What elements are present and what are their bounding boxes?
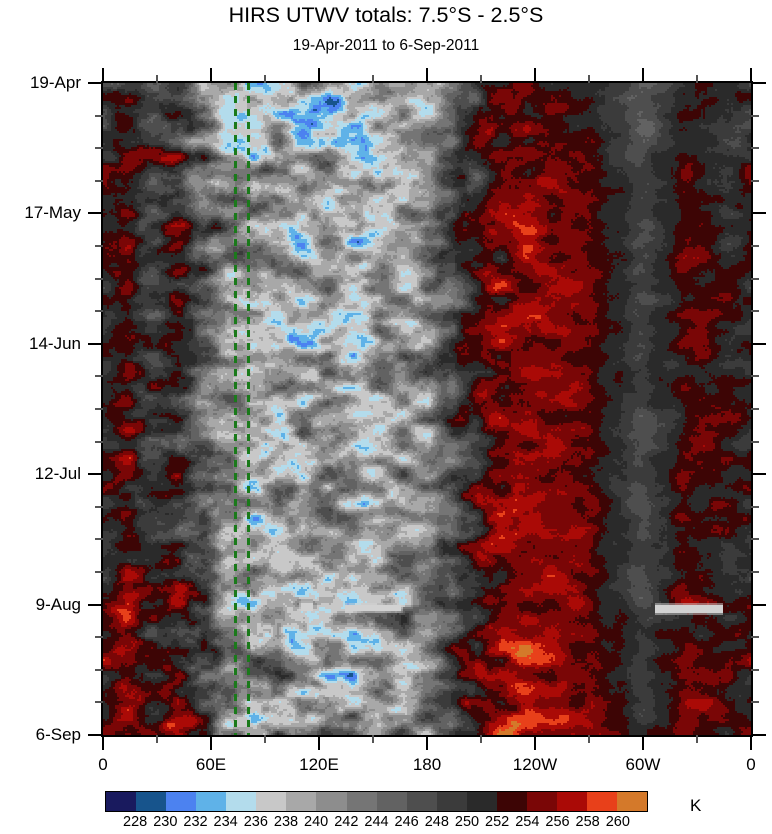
axis-tick — [210, 68, 212, 83]
x-axis-tick-label: 0 — [98, 755, 107, 775]
axis-tick — [751, 571, 759, 573]
plot-area — [103, 83, 751, 735]
colorbar-swatch-0 — [106, 792, 136, 811]
axis-tick — [156, 75, 158, 83]
axis-tick — [318, 68, 320, 83]
page-subtitle: 19-Apr-2011 to 6-Sep-2011 — [0, 36, 772, 56]
axis-tick — [751, 278, 759, 280]
axis-tick — [751, 506, 759, 508]
axis-tick — [751, 636, 759, 638]
colorbar-swatch-8 — [347, 792, 377, 811]
x-axis-tick-label: 180 — [413, 755, 441, 775]
axis-tick — [95, 278, 103, 280]
colorbar-swatch-2 — [166, 792, 196, 811]
axis-tick — [95, 310, 103, 312]
axis-tick — [588, 75, 590, 83]
colorbar-tick-label: 258 — [576, 813, 600, 831]
colorbar-tick-label: 230 — [153, 813, 177, 831]
axis-tick — [534, 735, 536, 750]
axis-tick — [751, 669, 759, 671]
colorbar-tick-label: 248 — [425, 813, 449, 831]
colorbar-tick-label: 236 — [244, 813, 268, 831]
axis-tick — [750, 735, 752, 750]
y-axis-tick-label: 17-May — [0, 203, 81, 223]
axis-tick — [751, 147, 759, 149]
x-axis-tick-label: 120E — [299, 755, 339, 775]
axis-tick — [372, 735, 374, 743]
x-axis-tick-label: 60W — [626, 755, 661, 775]
y-axis-tick-label: 19-Apr — [0, 73, 81, 93]
axis-tick — [88, 343, 103, 345]
colorbar-tick-label: 256 — [545, 813, 569, 831]
colorbar-tick-label: 250 — [455, 813, 479, 831]
axis-tick — [480, 75, 482, 83]
colorbar-tick-label: 254 — [515, 813, 539, 831]
axis-tick — [95, 669, 103, 671]
axis-tick — [751, 115, 759, 117]
reference-line-1 — [247, 83, 250, 735]
axis-tick — [751, 343, 766, 345]
axis-tick — [95, 636, 103, 638]
colorbar-swatch-6 — [286, 792, 316, 811]
axis-tick — [751, 441, 759, 443]
axis-tick — [372, 75, 374, 83]
axis-tick — [642, 68, 644, 83]
axis-tick — [88, 212, 103, 214]
axis-tick — [751, 212, 766, 214]
y-axis-tick-label: 9-Aug — [0, 595, 81, 615]
axis-tick — [751, 180, 759, 182]
x-axis-tick-label: 0 — [746, 755, 755, 775]
axis-tick — [95, 115, 103, 117]
colorbar-tick-label: 246 — [395, 813, 419, 831]
colorbar-swatch-10 — [407, 792, 437, 811]
colorbar-tick-label: 244 — [364, 813, 388, 831]
hovmoller-figure: HIRS UTWV totals: 7.5°S - 2.5°S 19-Apr-2… — [0, 0, 772, 834]
colorbar-tick-label: 228 — [123, 813, 147, 831]
axis-tick — [696, 75, 698, 83]
axis-tick — [88, 473, 103, 475]
colorbar-swatches — [105, 791, 648, 812]
colorbar-swatch-17 — [617, 792, 647, 811]
colorbar-swatch-3 — [196, 792, 226, 811]
axis-tick — [751, 734, 766, 736]
axis-tick — [426, 68, 428, 83]
hovmoller-field — [103, 83, 751, 735]
colorbar-tick-labels: 2282302322342362382402422442462482502522… — [105, 813, 648, 833]
colorbar-tick-label: 260 — [606, 813, 630, 831]
axis-tick — [751, 375, 759, 377]
axis-tick — [696, 735, 698, 743]
axis-tick — [88, 82, 103, 84]
colorbar-tick-label: 238 — [274, 813, 298, 831]
colorbar-swatch-1 — [136, 792, 166, 811]
colorbar-swatch-5 — [256, 792, 286, 811]
axis-tick — [95, 408, 103, 410]
axis-tick — [480, 735, 482, 743]
reference-line-0 — [234, 83, 237, 735]
axis-tick — [751, 538, 759, 540]
axis-tick — [534, 68, 536, 83]
axis-tick — [95, 538, 103, 540]
axis-tick — [95, 701, 103, 703]
colorbar-swatch-13 — [497, 792, 527, 811]
axis-tick — [88, 604, 103, 606]
axis-tick — [95, 375, 103, 377]
axis-tick — [102, 735, 104, 750]
colorbar-tick-label: 242 — [334, 813, 358, 831]
y-axis-tick-label: 6-Sep — [0, 725, 81, 745]
axis-tick — [210, 735, 212, 750]
colorbar-swatch-9 — [377, 792, 407, 811]
axis-tick — [264, 735, 266, 743]
colorbar-tick-label: 234 — [214, 813, 238, 831]
axis-tick — [751, 701, 759, 703]
colorbar-tick-label: 252 — [485, 813, 509, 831]
axis-tick — [95, 245, 103, 247]
axis-tick — [95, 441, 103, 443]
colorbar-tick-label: 240 — [304, 813, 328, 831]
axis-tick — [95, 571, 103, 573]
colorbar-swatch-4 — [226, 792, 256, 811]
x-axis-tick-label: 60E — [196, 755, 226, 775]
axis-tick — [751, 82, 766, 84]
colorbar — [105, 791, 648, 812]
axis-tick — [318, 735, 320, 750]
axis-tick — [642, 735, 644, 750]
colorbar-unit-label: K — [690, 796, 701, 816]
axis-tick — [102, 68, 104, 83]
colorbar-tick-label: 232 — [183, 813, 207, 831]
axis-tick — [751, 245, 759, 247]
axis-tick — [426, 735, 428, 750]
axis-tick — [88, 734, 103, 736]
colorbar-swatch-12 — [467, 792, 497, 811]
colorbar-swatch-15 — [557, 792, 587, 811]
axis-tick — [751, 473, 766, 475]
axis-tick — [750, 68, 752, 83]
colorbar-swatch-11 — [437, 792, 467, 811]
axis-tick — [264, 75, 266, 83]
axis-tick — [588, 735, 590, 743]
page-title: HIRS UTWV totals: 7.5°S - 2.5°S — [0, 2, 772, 28]
colorbar-swatch-14 — [527, 792, 557, 811]
axis-tick — [156, 735, 158, 743]
y-axis-tick-label: 12-Jul — [0, 464, 81, 484]
axis-tick — [95, 147, 103, 149]
colorbar-swatch-7 — [316, 792, 346, 811]
x-axis-tick-label: 120W — [513, 755, 557, 775]
axis-tick — [751, 408, 759, 410]
axis-tick — [751, 310, 759, 312]
colorbar-swatch-16 — [587, 792, 617, 811]
axis-tick — [95, 506, 103, 508]
axis-tick — [751, 604, 766, 606]
axis-tick — [95, 180, 103, 182]
y-axis-tick-label: 14-Jun — [0, 334, 81, 354]
